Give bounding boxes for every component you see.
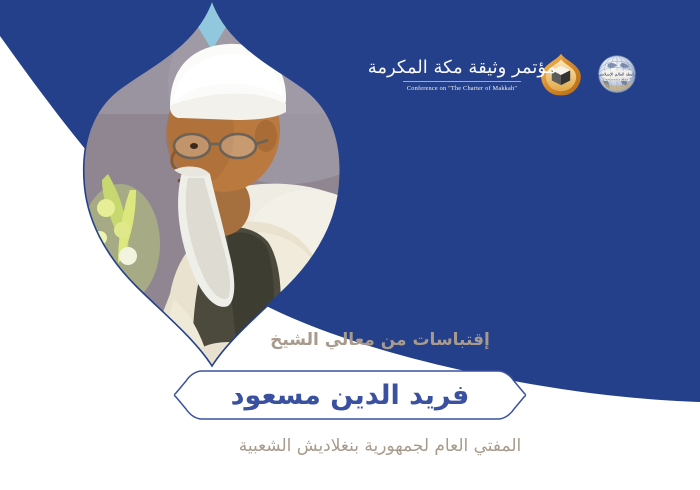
speaker-portrait <box>78 0 346 372</box>
conference-logo-divider <box>403 81 521 82</box>
quote-poster: مؤتمر وثيقة مكة المكرمة Conference on "T… <box>0 0 700 490</box>
muslim-world-league-globe-icon: رابطة العالم الإسلامي MUSLIM WORLD LEAGU… <box>594 52 640 98</box>
speaker-name: فريد الدين مسعود <box>172 369 528 421</box>
speaker-title: المفتي العام لجمهورية بنغلاديش الشعبية <box>130 434 630 458</box>
conference-logo: مؤتمر وثيقة مكة المكرمة Conference on "T… <box>396 47 528 103</box>
speaker-name-ribbon: فريد الدين مسعود <box>172 369 528 421</box>
header-logo-group: مؤتمر وثيقة مكة المكرمة Conference on "T… <box>396 44 646 106</box>
conference-logo-english-title: Conference on "The Charter of Makkah" <box>407 84 517 93</box>
conference-logo-arabic-title: مؤتمر وثيقة مكة المكرمة <box>368 57 557 79</box>
quote-kicker: إقتباسات من معالي الشيخ <box>150 328 610 352</box>
